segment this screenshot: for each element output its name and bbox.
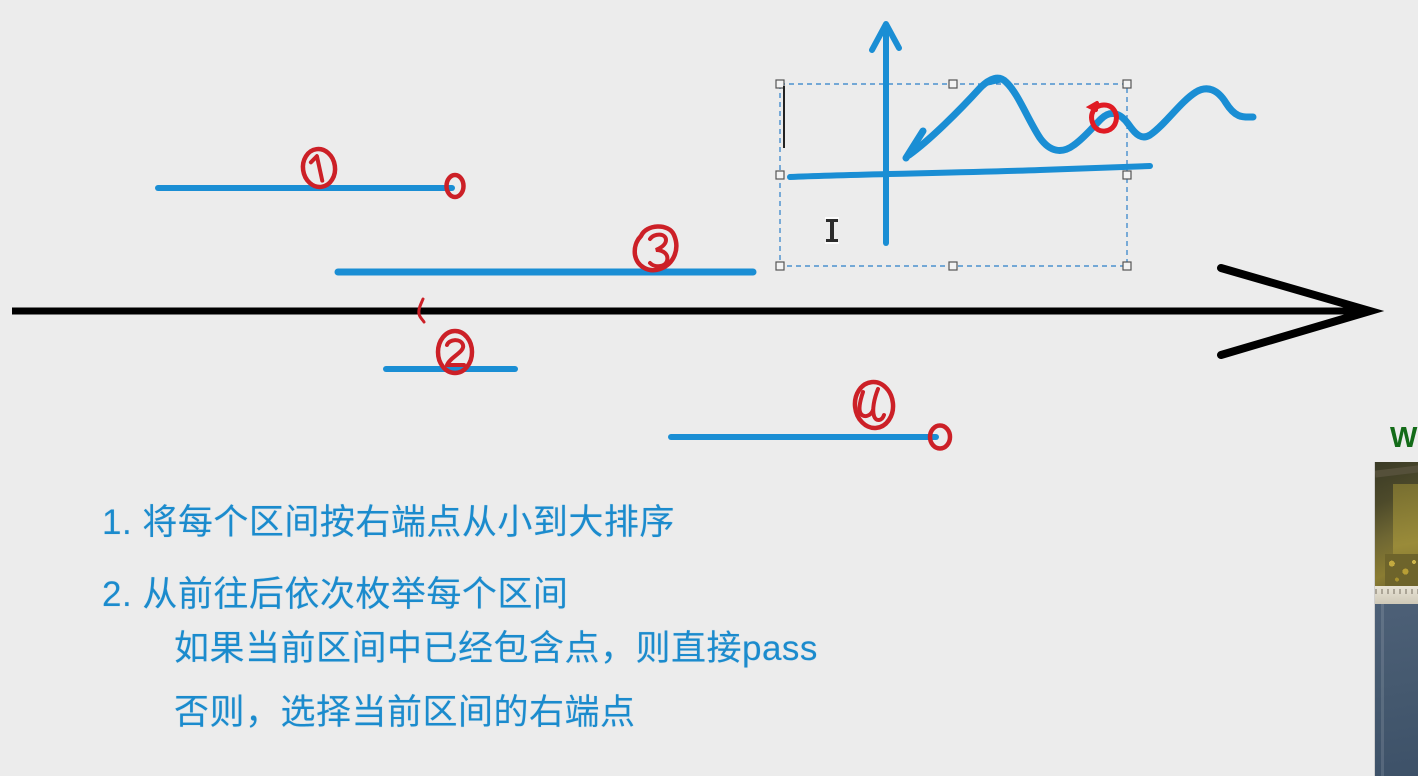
handle-top-right[interactable] — [1123, 80, 1131, 88]
interval-segment-2[interactable] — [386, 331, 515, 373]
camera-image-upper — [1375, 462, 1418, 588]
handle-middle-right[interactable] — [1123, 171, 1131, 179]
interval-2-badge — [438, 331, 472, 373]
handle-middle-left[interactable] — [776, 171, 784, 179]
interval-segment-4[interactable] — [671, 380, 950, 448]
interval-1-badge — [301, 147, 338, 189]
timeline-axis — [12, 268, 1370, 355]
note-line-2: 2. 从前往后依次枚举每个区间 — [102, 577, 568, 612]
note-line-3: 如果当前区间中已经包含点，则直接pass — [174, 631, 818, 666]
interval-3-badge — [635, 226, 677, 270]
handle-top-center[interactable] — [949, 80, 957, 88]
selected-drawing-object[interactable] — [776, 24, 1253, 270]
i-beam-cursor — [825, 217, 839, 244]
sketch-x-axis — [790, 166, 1150, 177]
camera-texture — [1385, 554, 1418, 586]
interval-segment-1[interactable] — [158, 147, 464, 197]
handle-bottom-right[interactable] — [1123, 262, 1131, 270]
handle-bottom-center[interactable] — [949, 262, 957, 270]
sketch-curve — [909, 78, 1253, 155]
sketch-curve-peak-tick — [988, 79, 1001, 82]
whiteboard-screen: 1. 将每个区间按右端点从小到大排序 2. 从前往后依次枚举每个区间 如果当前区… — [0, 0, 1418, 776]
sketch-y-axis — [872, 24, 899, 243]
camera-beam — [1375, 465, 1418, 477]
interval-4-badge — [853, 380, 896, 430]
note-line-4: 否则，选择当前区间的右端点 — [174, 695, 636, 730]
handle-bottom-left[interactable] — [776, 262, 784, 270]
camera-label: W — [1390, 422, 1418, 455]
camera-image-lower — [1375, 604, 1418, 776]
note-line-1: 1. 将每个区间按右端点从小到大排序 — [102, 505, 675, 540]
camera-thumbnail[interactable] — [1374, 462, 1418, 776]
camera-ledge — [1375, 586, 1418, 604]
handle-top-left[interactable] — [776, 80, 784, 88]
interval-segment-3[interactable] — [338, 226, 753, 272]
